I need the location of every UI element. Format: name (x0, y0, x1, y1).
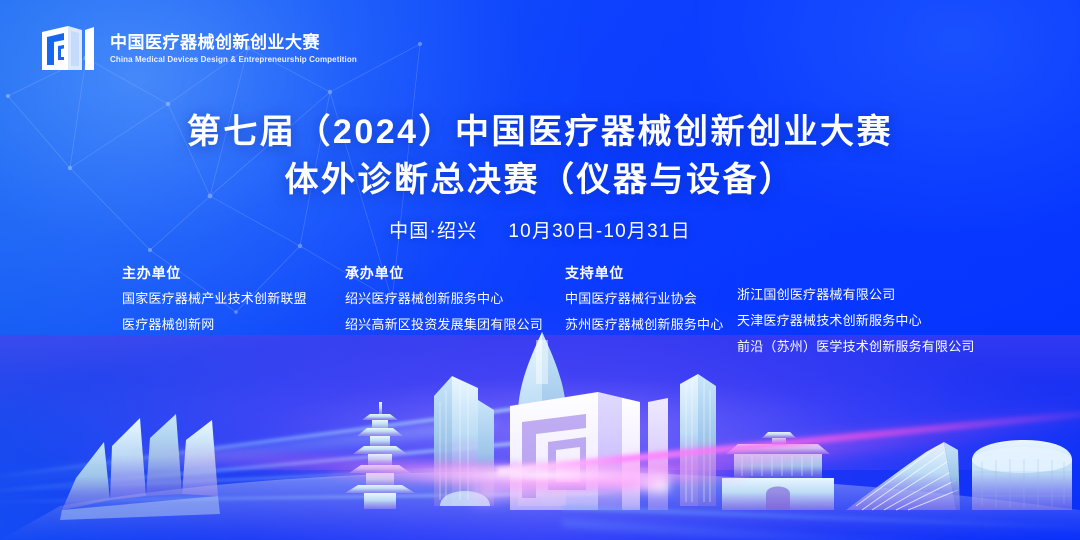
pagoda-icon (345, 402, 415, 509)
organizer-column-supporter: 支持单位 中国医疗器械行业协会 苏州医疗器械创新服务中心 (565, 266, 723, 344)
organizer-item: 国家医疗器械产业技术创新联盟 (122, 292, 307, 305)
open-book-logo-icon (38, 22, 98, 76)
title-line-1: 第七届（2024）中国医疗器械创新创业大赛 (0, 108, 1080, 156)
organizer-item: 苏州医疗器械创新服务中心 (565, 318, 723, 331)
logo-title-cn: 中国医疗器械创新创业大赛 (110, 33, 357, 53)
organizer-heading: 承办单位 (345, 266, 543, 280)
page-title: 第七届（2024）中国医疗器械创新创业大赛 体外诊断总决赛（仪器与设备） (0, 108, 1080, 205)
stadium-dome-icon (972, 440, 1072, 510)
logo-text-block: 中国医疗器械创新创业大赛 China Medical Devices Desig… (110, 33, 357, 65)
organizers-section: 主办单位 国家医疗器械产业技术创新联盟 医疗器械创新网 承办单位 绍兴医疗器械创… (0, 266, 1080, 366)
organizer-column-host: 主办单位 国家医疗器械产业技术创新联盟 医疗器械创新网 (122, 266, 307, 344)
organizer-heading: 主办单位 (122, 266, 307, 280)
organizer-item: 绍兴高新区投资发展集团有限公司 (345, 318, 543, 331)
organizer-column-supporter-extra: 浙江国创医疗器械有限公司 天津医疗器械技术创新服务中心 前沿（苏州）医学技术创新… (737, 288, 975, 366)
competition-logo[interactable]: 中国医疗器械创新创业大赛 China Medical Devices Desig… (38, 22, 357, 76)
organizer-item: 前沿（苏州）医学技术创新服务有限公司 (737, 340, 975, 353)
event-meta: 中国·绍兴 10月30日-10月31日 (0, 216, 1080, 243)
organizer-item: 医疗器械创新网 (122, 318, 307, 331)
organizer-heading: 支持单位 (565, 266, 723, 280)
angular-skyscraper-icon (434, 376, 494, 506)
conference-banner: 中国医疗器械创新创业大赛 China Medical Devices Desig… (0, 0, 1080, 540)
logo-title-en: China Medical Devices Design & Entrepren… (110, 55, 357, 65)
title-line-2: 体外诊断总决赛（仪器与设备） (0, 156, 1080, 204)
traditional-gate-icon (722, 432, 834, 510)
sails-building-icon (60, 414, 220, 520)
organizer-column-coorganizer: 承办单位 绍兴医疗器械创新服务中心 绍兴高新区投资发展集团有限公司 (345, 266, 543, 344)
glass-tower-icon (680, 374, 716, 506)
stepped-roof-icon (846, 442, 960, 510)
event-dates: 10月30日-10月31日 (508, 221, 690, 242)
organizer-item: 绍兴医疗器械创新服务中心 (345, 292, 543, 305)
organizer-item: 天津医疗器械技术创新服务中心 (737, 314, 975, 327)
organizer-item: 浙江国创医疗器械有限公司 (737, 288, 975, 301)
organizer-item: 中国医疗器械行业协会 (565, 292, 723, 305)
event-location: 中国·绍兴 (389, 221, 477, 242)
